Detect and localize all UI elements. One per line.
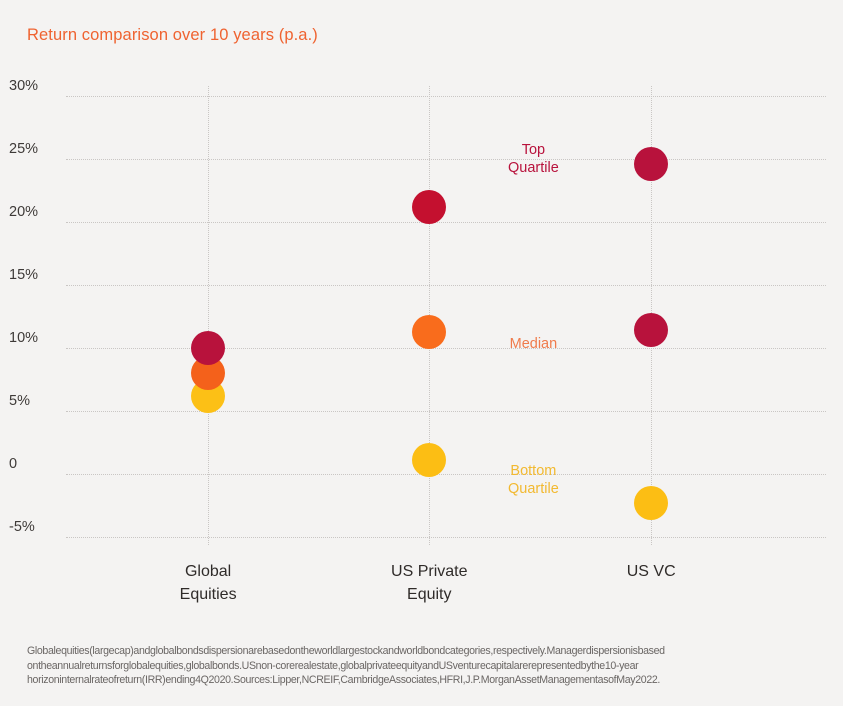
category-label: Global Equities bbox=[180, 560, 237, 606]
y-axis-tick-label: 25% bbox=[9, 141, 67, 157]
data-point bbox=[634, 486, 668, 520]
data-point bbox=[634, 313, 668, 347]
y-axis-tick-label: -5% bbox=[9, 519, 67, 535]
y-axis-tick-label: 5% bbox=[9, 393, 67, 409]
data-point bbox=[634, 147, 668, 181]
gridline-y bbox=[66, 96, 826, 97]
y-axis-tick-label: 15% bbox=[9, 267, 67, 283]
y-axis-tick-label: 20% bbox=[9, 204, 67, 220]
data-point bbox=[412, 315, 446, 349]
data-point bbox=[191, 331, 225, 365]
y-axis-tick-label: 30% bbox=[9, 78, 67, 94]
footnote-line: ontheannualreturnsforglobalequities,glob… bbox=[27, 659, 832, 674]
gridline-y bbox=[66, 222, 826, 223]
y-axis-tick-label: 10% bbox=[9, 330, 67, 346]
series-annotation-label: Median bbox=[510, 335, 558, 353]
gridline-y bbox=[66, 411, 826, 412]
y-axis-tick-labels: -5%05%10%15%20%25%30% bbox=[27, 96, 67, 537]
gridline-y bbox=[66, 537, 826, 538]
gridline-y bbox=[66, 285, 826, 286]
series-annotation-label: Bottom Quartile bbox=[508, 462, 559, 498]
data-point bbox=[412, 190, 446, 224]
chart-title: Return comparison over 10 years (p.a.) bbox=[27, 26, 318, 45]
gridline-y bbox=[66, 474, 826, 475]
gridline-y bbox=[66, 348, 826, 349]
gridline-y bbox=[66, 159, 826, 160]
category-label: US Private Equity bbox=[391, 560, 467, 606]
data-point bbox=[412, 443, 446, 477]
footnote-line: Globalequities(largecap)andglobalbondsdi… bbox=[27, 644, 832, 659]
y-axis-tick-label: 0 bbox=[9, 456, 67, 472]
gridline-category bbox=[208, 86, 209, 545]
category-label: US VC bbox=[627, 560, 676, 583]
return-comparison-chart: Return comparison over 10 years (p.a.) -… bbox=[0, 0, 843, 706]
chart-footnote: Globalequities(largecap)andglobalbondsdi… bbox=[27, 644, 832, 688]
series-annotation-label: Top Quartile bbox=[508, 141, 559, 177]
footnote-line: horizoninternalrateofreturn(IRR)ending4Q… bbox=[27, 673, 832, 688]
plot-area: Top QuartileMedianBottom Quartile bbox=[66, 96, 826, 537]
